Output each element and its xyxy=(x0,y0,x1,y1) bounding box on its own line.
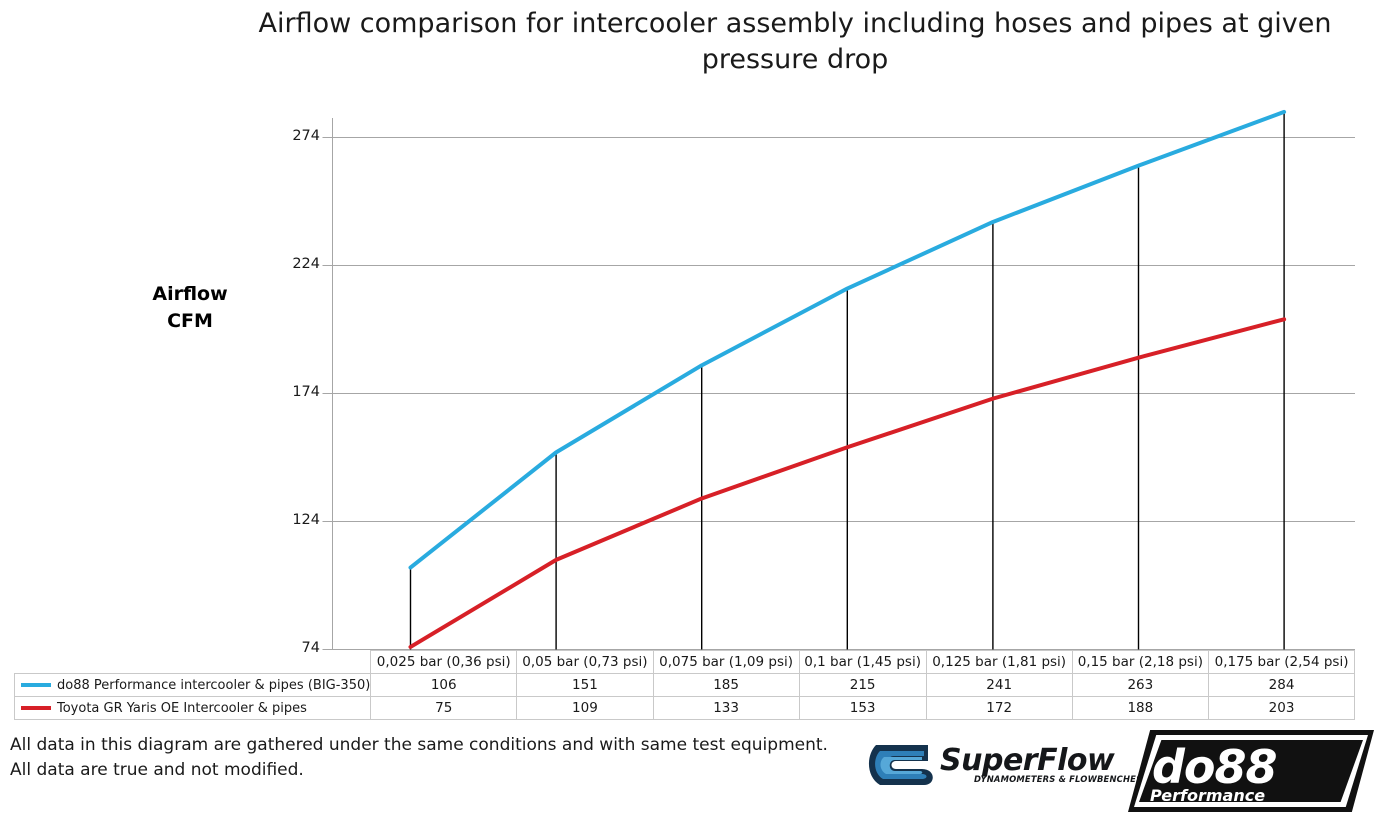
table-value-cell: 151 xyxy=(517,674,654,697)
legend-item-0[interactable]: do88 Performance intercooler & pipes (BI… xyxy=(15,674,371,697)
y-tick-label: 124 xyxy=(276,512,320,528)
table-value-cell: 185 xyxy=(653,674,799,697)
legend-swatch-blue-icon xyxy=(21,683,51,687)
superflow-wordmark: SuperFlow xyxy=(940,743,1114,778)
table-value-cell: 215 xyxy=(799,674,926,697)
table-row-series-1: Toyota GR Yaris OE Intercooler & pipes 7… xyxy=(15,697,1355,720)
table-value-cell: 172 xyxy=(926,697,1072,720)
do88-logo: do88 Performance xyxy=(1128,730,1374,812)
table-value-cell: 106 xyxy=(371,674,517,697)
table-value-cell: 133 xyxy=(653,697,799,720)
do88-sub-wordmark: Performance xyxy=(1150,786,1265,805)
legend-label-1: Toyota GR Yaris OE Intercooler & pipes xyxy=(57,701,307,716)
table-corner-blank xyxy=(15,651,371,674)
table-category-header: 0,05 bar (0,73 psi) xyxy=(517,651,654,674)
table-value-cell: 153 xyxy=(799,697,926,720)
legend-swatch-red-icon xyxy=(21,706,51,710)
y-tick-label: 274 xyxy=(276,128,320,144)
table-value-cell: 263 xyxy=(1072,674,1209,697)
table-value-cell: 241 xyxy=(926,674,1072,697)
table-category-header: 0,025 bar (0,36 psi) xyxy=(371,651,517,674)
superflow-tagline: DYNAMOMETERS & FLOWBENCHES xyxy=(974,775,1142,785)
table-category-header: 0,075 bar (1,09 psi) xyxy=(653,651,799,674)
table-value-cell: 203 xyxy=(1209,697,1355,720)
legend-item-1[interactable]: Toyota GR Yaris OE Intercooler & pipes xyxy=(15,697,371,720)
gridlines xyxy=(323,138,1356,650)
legend-label-0: do88 Performance intercooler & pipes (BI… xyxy=(57,678,370,693)
table-value-cell: 188 xyxy=(1072,697,1209,720)
data-table: 0,025 bar (0,36 psi)0,05 bar (0,73 psi)0… xyxy=(14,650,1355,720)
footer-disclaimer: All data in this diagram are gathered un… xyxy=(10,733,828,783)
table-category-header: 0,175 bar (2,54 psi) xyxy=(1209,651,1355,674)
table-category-header: 0,15 bar (2,18 psi) xyxy=(1072,651,1209,674)
y-tick-label: 174 xyxy=(276,384,320,400)
table-value-cell: 284 xyxy=(1209,674,1355,697)
chart-plot-area xyxy=(0,0,1382,660)
table-value-cell: 109 xyxy=(517,697,654,720)
table-category-header: 0,1 bar (1,45 psi) xyxy=(799,651,926,674)
y-tick-label: 224 xyxy=(276,256,320,272)
table-row-categories: 0,025 bar (0,36 psi)0,05 bar (0,73 psi)0… xyxy=(15,651,1355,674)
superflow-logo: SuperFlow DYNAMOMETERS & FLOWBENCHES xyxy=(866,737,1104,793)
table-value-cell: 75 xyxy=(371,697,517,720)
table-row-series-0: do88 Performance intercooler & pipes (BI… xyxy=(15,674,1355,697)
table-category-header: 0,125 bar (1,81 psi) xyxy=(926,651,1072,674)
superflow-swoosh-icon xyxy=(866,739,938,791)
